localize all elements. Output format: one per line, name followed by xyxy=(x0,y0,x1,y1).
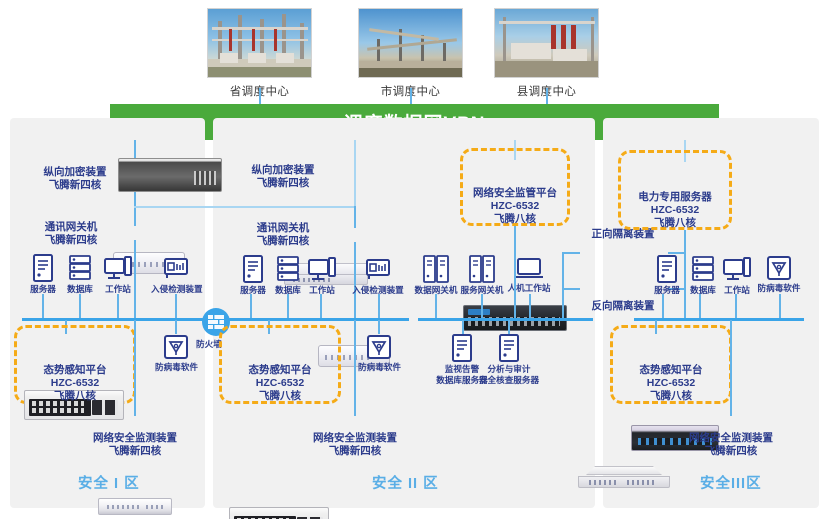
link-zone1-bus-to-monitor xyxy=(134,320,136,416)
zone2-workstation: 工作站 xyxy=(305,255,339,296)
link-zone3-power-server-to-bus xyxy=(684,230,686,320)
link-zone1-ids-to-bus xyxy=(175,294,177,320)
antivirus-shield-icon xyxy=(163,334,189,360)
link-zone2-bus-to-antivirus xyxy=(378,320,380,334)
zone3-server-label: 服务器 xyxy=(651,285,683,296)
zone3-database-label: 数据库 xyxy=(687,285,719,296)
antivirus-shield-icon xyxy=(766,255,792,281)
zone1-monitor-label: 网络安全监测装置 飞腾新四核 xyxy=(75,432,195,458)
link-zone2-bus-to-audit-server xyxy=(508,320,510,334)
zone2-audit-server: 分析与审计 安全核查服务器 xyxy=(478,334,540,385)
link-zone3-workstation-to-bus xyxy=(735,294,737,320)
zone2-audit-server-line1: 分析与审计 xyxy=(478,364,540,375)
database-icon xyxy=(68,254,92,282)
zone1-antivirus-label: 防病毒软件 xyxy=(155,362,197,373)
zone3-workstation: 工作站 xyxy=(720,255,754,296)
zone3-server: 服务器 xyxy=(651,255,683,296)
ids-card-icon xyxy=(364,255,392,283)
link-zone2-service-gateway-to-bus xyxy=(481,294,483,320)
zone3-power-server-label: 电力专用服务器 HZC-6532 飞腾八核 xyxy=(619,191,731,230)
link-zone3-antivirus-to-bus xyxy=(779,294,781,320)
rack-chassis-icon xyxy=(118,158,222,192)
zone2-label: 安全 II 区 xyxy=(372,472,439,493)
link-zone2-supervisory-to-bus xyxy=(514,226,516,320)
zone3-platform-label: 态势感知平台 HZC-6532 飞腾八核 xyxy=(611,364,731,403)
server-icon xyxy=(656,255,678,283)
link-zone2-data-gateway-to-bus xyxy=(435,294,437,320)
zone1-platform-label: 态势感知平台 HZC-6532 飞腾八核 xyxy=(15,364,135,403)
link-zone2-bus-to-forward-iso xyxy=(562,252,580,254)
ids-card-icon xyxy=(162,254,190,282)
zone2-service-gateway: 服务网关机 xyxy=(459,255,505,296)
zone1-database: 数据库 xyxy=(64,254,96,295)
zone3-antivirus: 防病毒软件 xyxy=(756,255,802,294)
reverse-isolation-label: 反向隔离装置 xyxy=(573,300,673,313)
dispatch-center-city: 市调度中心 xyxy=(358,8,463,99)
cabinet-icon xyxy=(423,255,449,283)
link-zone2-ids-to-bus xyxy=(378,294,380,320)
zone1-server-label: 服务器 xyxy=(28,284,58,295)
zone3-database: 数据库 xyxy=(687,255,719,296)
link-forward-iso-down xyxy=(562,252,564,318)
server-icon xyxy=(498,334,520,362)
zone3-antivirus-label: 防病毒软件 xyxy=(756,283,802,294)
workstation-icon xyxy=(308,255,336,283)
cabinet-icon xyxy=(469,255,495,283)
zone1-encryptor-label: 纵向加密装置 飞腾新四核 xyxy=(32,166,118,192)
dispatch-center-province: 省调度中心 xyxy=(207,8,312,99)
zone1-antivirus: 防病毒软件 xyxy=(155,334,197,373)
link-zone1-encryptor-to-gateway xyxy=(134,192,136,226)
zone3-bus xyxy=(634,318,804,321)
link-zone2-bus-to-reverse-iso xyxy=(562,288,580,290)
zone2-antivirus: 防病毒软件 xyxy=(358,334,400,373)
link-zone3-database-to-bus xyxy=(699,294,701,320)
zone2-gateway-label: 通讯网关机 飞腾新四核 xyxy=(243,222,323,248)
link-zone2-hmi-to-bus xyxy=(529,294,531,320)
zone2-platform-label: 态势感知平台 HZC-6532 飞腾八核 xyxy=(220,364,340,403)
server-icon xyxy=(451,334,473,362)
zone2-server: 服务器 xyxy=(238,255,268,296)
link-zone1-to-zone2-encryptor xyxy=(134,206,354,208)
zone2-monitor-label: 网络安全监测装置 飞腾新四核 xyxy=(295,432,415,458)
link-vpn-to-zone2-supervisory xyxy=(514,140,516,160)
zone1-gateway-label: 通讯网关机 飞腾新四核 xyxy=(30,221,112,247)
zone2-server-label: 服务器 xyxy=(238,285,268,296)
zone2-audit-server-line2: 安全核查服务器 xyxy=(478,375,540,386)
zone2-hmi-workstation: 人机工作站 xyxy=(506,257,552,294)
zone1-workstation: 工作站 xyxy=(101,254,135,295)
substation-photo-icon xyxy=(494,8,599,78)
link-zone2-server-to-bus xyxy=(250,294,252,320)
zone2-ids: 入侵检测装置 xyxy=(352,255,404,296)
zone2-data-gateway: 数据网关机 xyxy=(413,255,459,296)
server-icon xyxy=(32,254,54,282)
zone3-monitor-label: 网络安全监测装置 飞腾新四核 xyxy=(671,432,791,458)
link-zone1-workstation-to-bus xyxy=(117,294,119,320)
zone2-supervisory-label: 网络安全监管平台 HZC-6532 飞腾八核 xyxy=(461,187,569,226)
zone1-label: 安全 I 区 xyxy=(78,472,140,493)
zone2-database: 数据库 xyxy=(272,255,304,296)
thin-1u-appliance-icon xyxy=(98,498,172,515)
link-zone2-encryptor-to-gateway xyxy=(354,206,356,228)
zone2-workstation-label: 工作站 xyxy=(305,285,339,296)
link-zone3-bus-to-monitor xyxy=(730,320,732,416)
link-zone2-bus-to-alarm-server xyxy=(462,320,464,334)
zone2-bus-left xyxy=(224,318,409,321)
situational-awareness-appliance-icon xyxy=(229,507,329,519)
link-zone2-workstation-to-bus xyxy=(320,294,322,320)
server-icon xyxy=(242,255,264,283)
zone2-bus-right xyxy=(418,318,593,321)
zone1-server: 服务器 xyxy=(28,254,58,295)
link-zone1-database-to-bus xyxy=(79,294,81,320)
link-zone3-server-to-bus xyxy=(662,294,664,320)
zone3-label: 安全III区 xyxy=(700,472,762,493)
dispatch-center-county: 县调度中心 xyxy=(494,8,599,99)
zone3-workstation-label: 工作站 xyxy=(720,285,754,296)
zone1-ids: 入侵检测装置 xyxy=(151,254,201,295)
workstation-icon xyxy=(723,255,751,283)
zone1-workstation-label: 工作站 xyxy=(101,284,135,295)
link-zone2-bus-to-monitor xyxy=(354,320,356,416)
laptop-icon xyxy=(514,257,544,281)
substation-photo-icon xyxy=(207,8,312,78)
substation-photo-icon xyxy=(358,8,463,78)
firewall-label: 防火墙 xyxy=(196,338,222,350)
zone2-antivirus-label: 防病毒软件 xyxy=(358,362,400,373)
database-icon xyxy=(691,255,715,283)
zone1-database-label: 数据库 xyxy=(64,284,96,295)
workstation-icon xyxy=(104,254,132,282)
database-icon xyxy=(276,255,300,283)
zone1-ids-label: 入侵检测装置 xyxy=(151,284,201,295)
forward-isolation-appliance-icon xyxy=(578,466,670,488)
antivirus-shield-icon xyxy=(366,334,392,360)
zone2-hmi-workstation-label: 人机工作站 xyxy=(506,283,552,294)
link-vpn-to-zone2-encryptor xyxy=(354,140,356,208)
zone2-encryptor-label: 纵向加密装置 飞腾新四核 xyxy=(240,164,326,190)
link-zone1-server-to-bus xyxy=(42,294,44,320)
link-zone2-database-to-bus xyxy=(287,294,289,320)
link-zone1-bus-to-antivirus xyxy=(175,320,177,334)
network-topology-diagram: 省调度中心 市调度中心 县调度中心 xyxy=(0,0,829,519)
